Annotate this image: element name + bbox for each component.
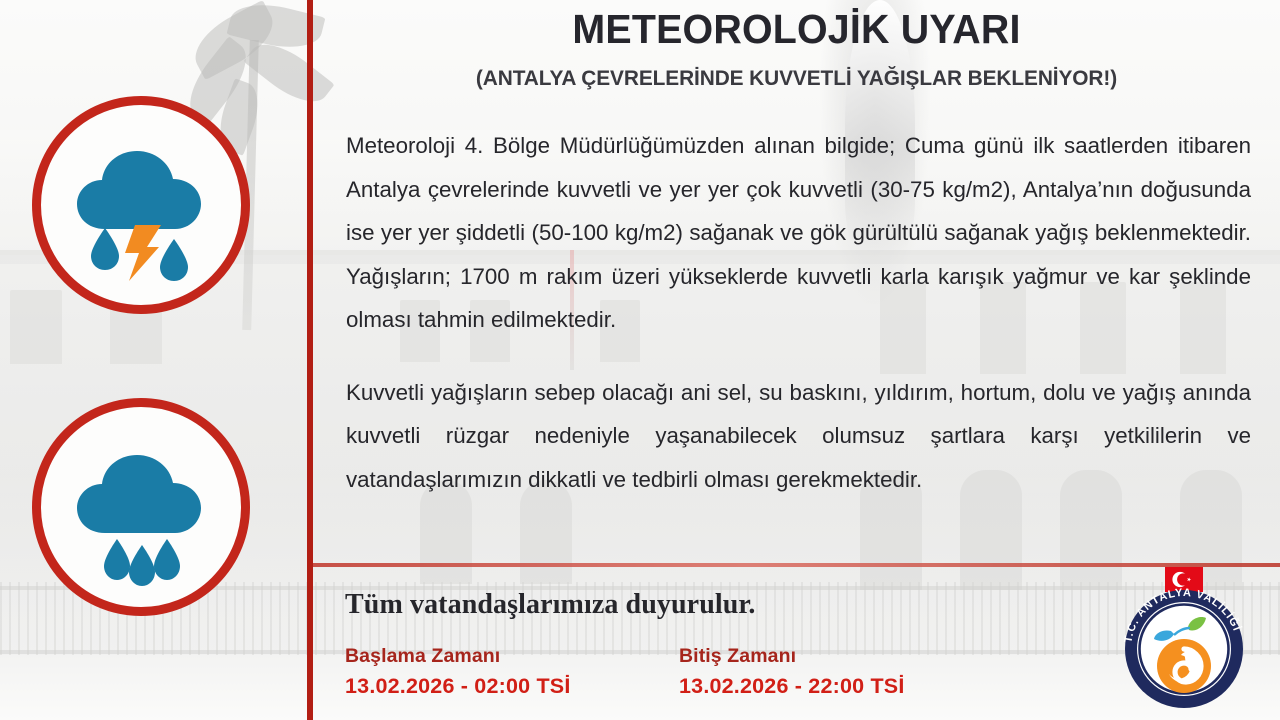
heavy-rain-icon [32, 398, 250, 616]
page-subtitle: (ANTALYA ÇEVRELERİNDE KUVVETLİ YAĞIŞLAR … [328, 66, 1266, 91]
page-title: METEOROLOJİK UYARI [332, 6, 1260, 53]
paragraph-spacer [346, 342, 1251, 371]
meteorological-warning-poster: METEOROLOJİK UYARI (ANTALYA ÇEVRELERİNDE… [0, 0, 1280, 720]
warning-paragraph-2: Kuvvetli yağışların sebep olacağı ani se… [346, 371, 1251, 502]
thunderstorm-icon [32, 96, 250, 314]
warning-paragraph-1: Meteoroloji 4. Bölge Müdürlüğümüzden alı… [346, 124, 1251, 342]
content-column: METEOROLOJİK UYARI (ANTALYA ÇEVRELERİNDE… [313, 0, 1280, 720]
warning-body: Meteoroloji 4. Bölge Müdürlüğümüzden alı… [346, 124, 1251, 501]
